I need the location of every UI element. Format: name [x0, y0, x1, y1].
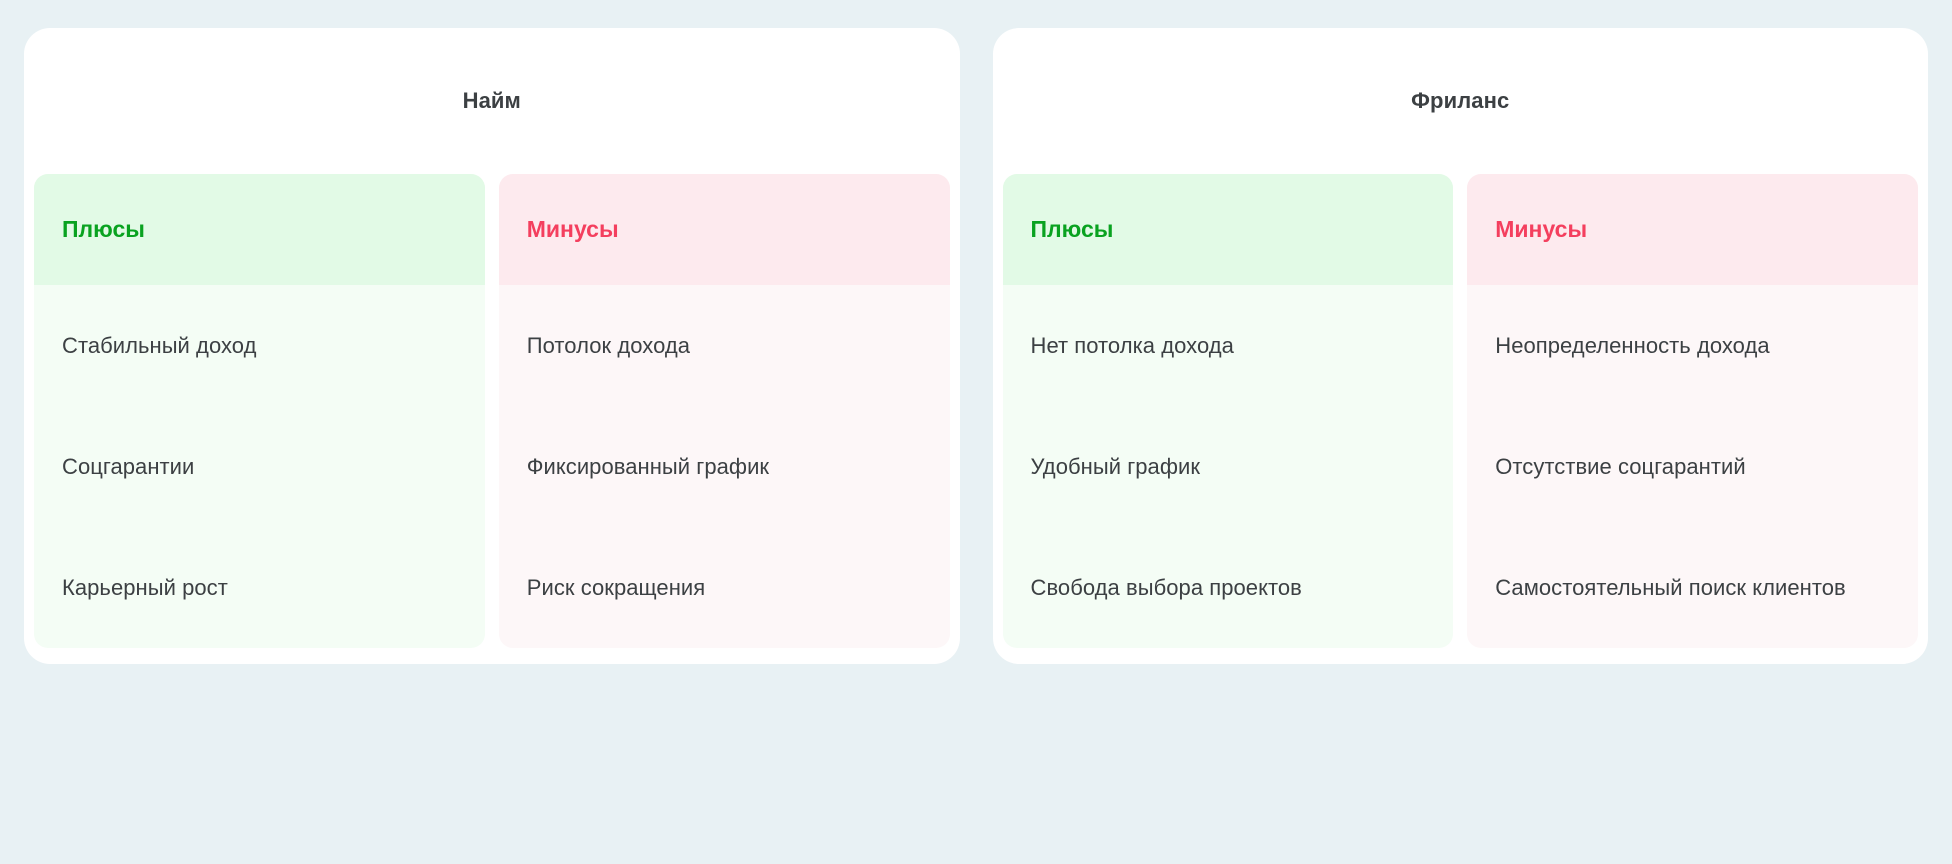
list-item-text: Потолок дохода [527, 327, 690, 365]
list-item: Потолок дохода [527, 285, 926, 406]
panel-group: Плюсы Стабильный доход Соцгарантии Карье… [24, 174, 960, 664]
list-item: Фиксированный график [527, 406, 926, 527]
cons-item-list: Неопределенность дохода Отсутствие соцга… [1467, 285, 1918, 648]
list-item: Соцгарантии [62, 406, 461, 527]
list-item-text: Стабильный доход [62, 327, 256, 365]
pros-panel-label: Плюсы [1003, 174, 1454, 285]
pros-panel: Плюсы Нет потолка дохода Удобный график … [1003, 174, 1454, 648]
pros-item-list: Стабильный доход Соцгарантии Карьерный р… [34, 285, 485, 648]
cons-panel-label: Минусы [499, 174, 950, 285]
list-item-text: Соцгарантии [62, 448, 194, 486]
pros-panel: Плюсы Стабильный доход Соцгарантии Карье… [34, 174, 485, 648]
list-item: Свобода выбора проектов [1031, 527, 1430, 648]
card-title: Найм [24, 28, 960, 174]
list-item-text: Карьерный рост [62, 569, 228, 607]
list-item-text: Отсутствие соцгарантий [1495, 448, 1745, 486]
cons-panel: Минусы Неопределенность дохода Отсутстви… [1467, 174, 1918, 648]
list-item: Удобный график [1031, 406, 1430, 527]
comparison-card-freelance: Фриланс Плюсы Нет потолка дохода Удобный… [993, 28, 1929, 664]
pros-item-list: Нет потолка дохода Удобный график Свобод… [1003, 285, 1454, 648]
list-item: Карьерный рост [62, 527, 461, 648]
list-item-text: Удобный график [1031, 448, 1201, 486]
list-item: Отсутствие соцгарантий [1495, 406, 1894, 527]
list-item: Неопределенность дохода [1495, 285, 1894, 406]
list-item: Стабильный доход [62, 285, 461, 406]
panel-group: Плюсы Нет потолка дохода Удобный график … [993, 174, 1929, 664]
list-item: Самостоятельный поиск клиентов [1495, 527, 1894, 648]
list-item: Нет потолка дохода [1031, 285, 1430, 406]
list-item-text: Неопределенность дохода [1495, 327, 1769, 365]
comparison-card-employment: Найм Плюсы Стабильный доход Соцгарантии … [24, 28, 960, 664]
list-item-text: Нет потолка дохода [1031, 327, 1234, 365]
cons-panel: Минусы Потолок дохода Фиксированный граф… [499, 174, 950, 648]
list-item: Риск сокращения [527, 527, 926, 648]
comparison-board: Найм Плюсы Стабильный доход Соцгарантии … [0, 0, 1952, 864]
list-item-text: Фиксированный график [527, 448, 769, 486]
cons-panel-label: Минусы [1467, 174, 1918, 285]
list-item-text: Риск сокращения [527, 569, 705, 607]
cons-item-list: Потолок дохода Фиксированный график Риск… [499, 285, 950, 648]
pros-panel-label: Плюсы [34, 174, 485, 285]
card-title: Фриланс [993, 28, 1929, 174]
list-item-text: Самостоятельный поиск клиентов [1495, 569, 1846, 607]
list-item-text: Свобода выбора проектов [1031, 569, 1302, 607]
